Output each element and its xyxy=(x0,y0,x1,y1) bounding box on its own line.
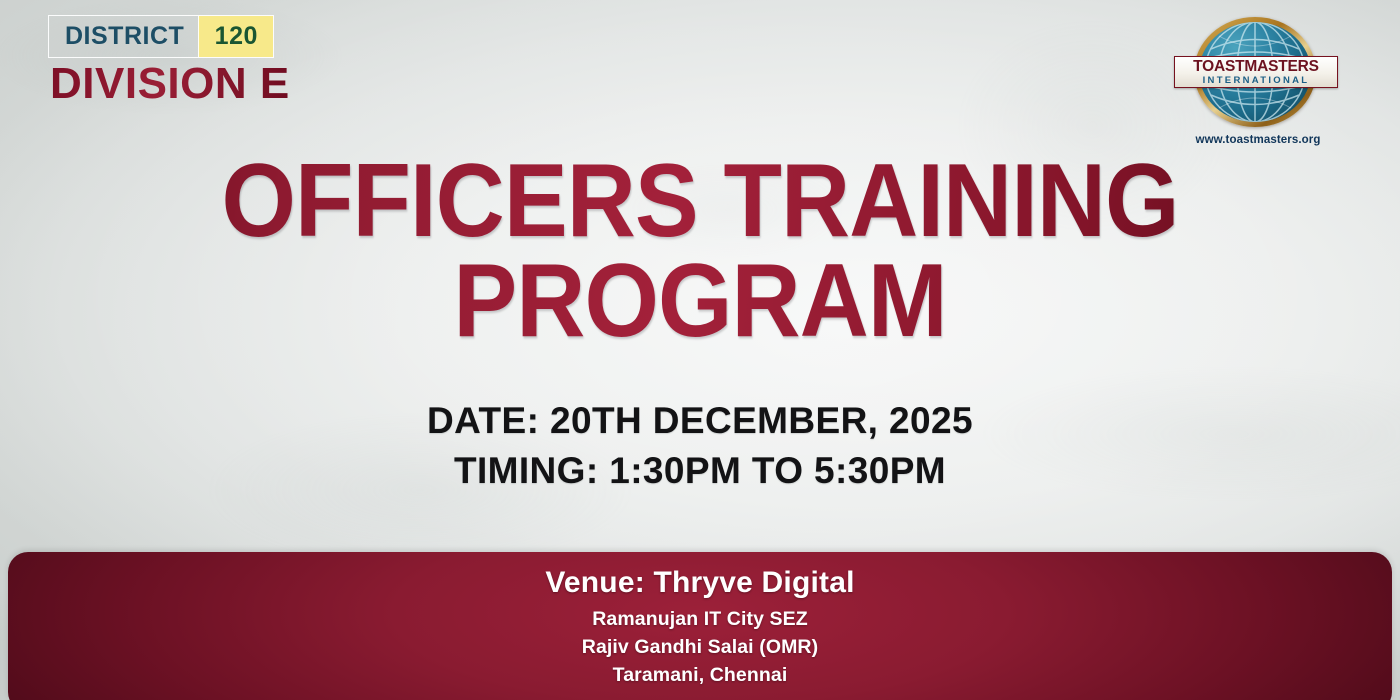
page-title-line-1: OFFICERS TRAINING xyxy=(56,152,1344,252)
venue-address: Ramanujan IT City SEZ Rajiv Gandhi Salai… xyxy=(8,605,1392,690)
venue-banner: Venue: Thryve Digital Ramanujan IT City … xyxy=(8,552,1392,700)
logo-banner-sub-text: INTERNATIONAL xyxy=(1203,76,1310,86)
venue-address-line: Ramanujan IT City SEZ xyxy=(8,605,1392,633)
district-badge: DISTRICT 120 xyxy=(48,15,274,58)
toastmasters-logo: TOASTMASTERS INTERNATIONAL www.toastmast… xyxy=(1168,12,1348,160)
venue-title: Venue: Thryve Digital xyxy=(8,564,1392,602)
page-title: OFFICERS TRAINING PROGRAM xyxy=(0,152,1400,352)
venue-address-line: Rajiv Gandhi Salai (OMR) xyxy=(8,633,1392,661)
division-title: DIVISION E xyxy=(50,62,290,106)
event-poster: DISTRICT 120 DIVISION E xyxy=(0,0,1400,700)
logo-banner: TOASTMASTERS INTERNATIONAL xyxy=(1174,56,1338,88)
district-label: DISTRICT xyxy=(49,16,198,57)
event-time: TIMING: 1:30PM TO 5:30PM xyxy=(0,446,1400,496)
event-date: DATE: 20TH DECEMBER, 2025 xyxy=(0,396,1400,446)
logo-url: www.toastmasters.org xyxy=(1168,134,1348,146)
district-number: 120 xyxy=(198,16,273,57)
page-title-line-2: PROGRAM xyxy=(56,252,1344,352)
logo-banner-main-text: TOASTMASTERS xyxy=(1193,59,1319,75)
schedule-block: DATE: 20TH DECEMBER, 2025 TIMING: 1:30PM… xyxy=(0,396,1400,495)
venue-address-line: Taramani, Chennai xyxy=(8,661,1392,689)
